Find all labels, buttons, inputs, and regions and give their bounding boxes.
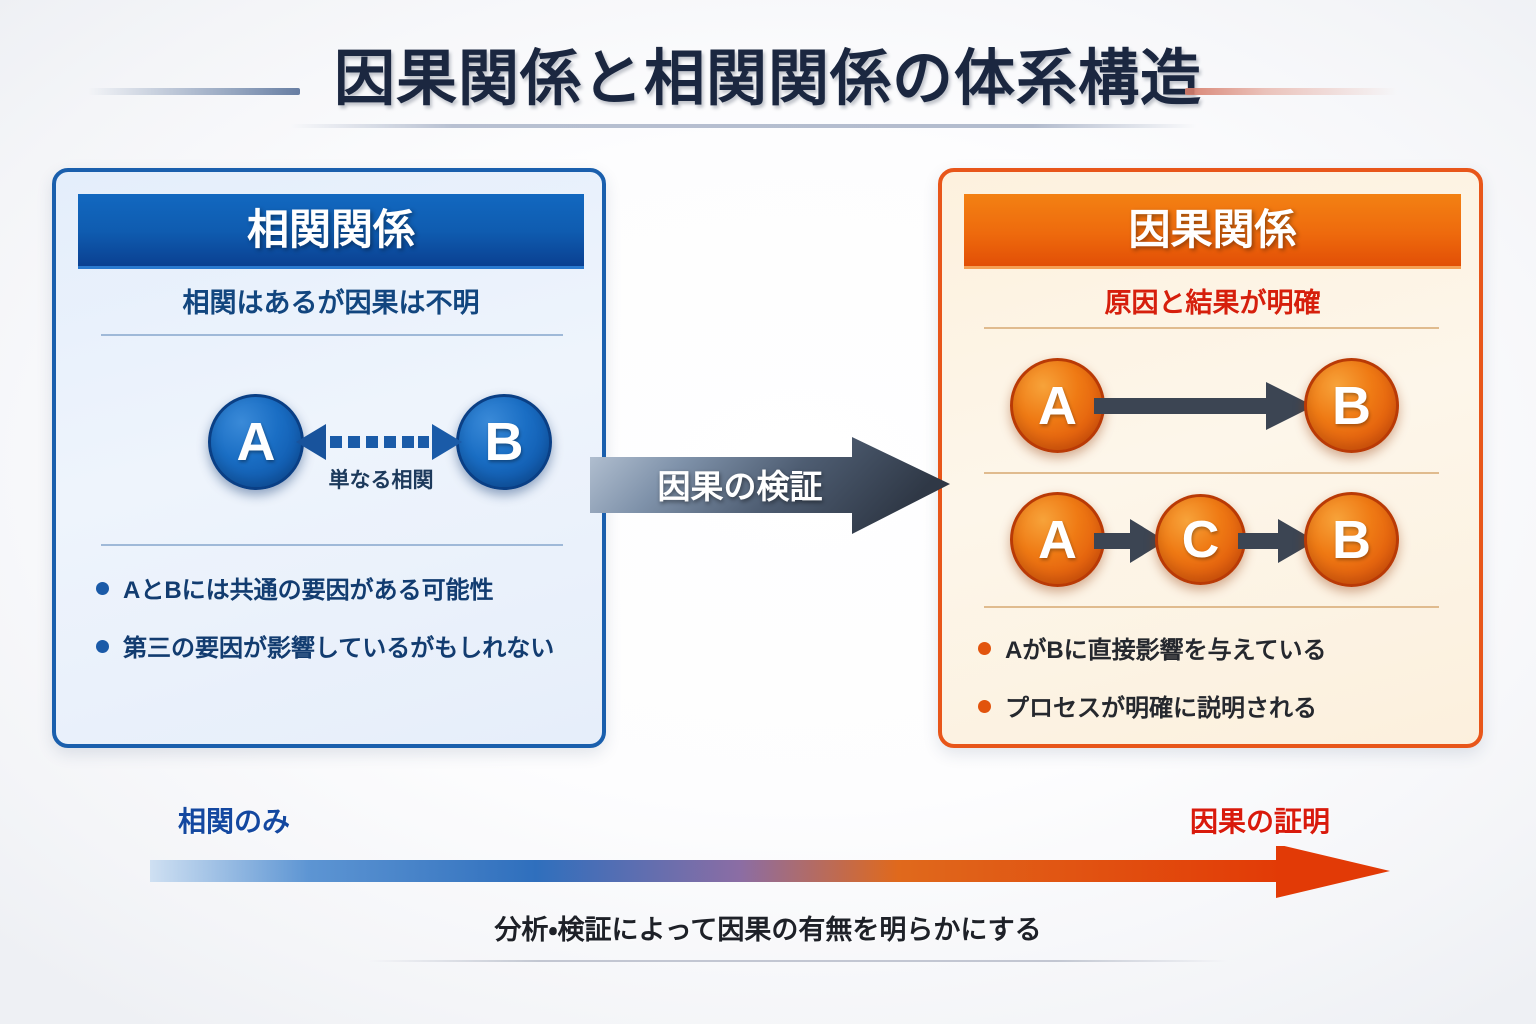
divider-correlation-bottom [101,544,563,546]
bullet-label: プロセスが明確に説明される [1005,688,1317,723]
node-causation-row2-b: B [1304,492,1399,587]
spectrum-gradient-arrow-icon [150,846,1390,898]
bullet-dot-icon [96,582,109,595]
bottom-rule [368,960,1228,962]
slide-canvas: 因果関係と相関関係の体系構造 相関関係 相関はあるが因果は不明 A B 単なる相… [0,0,1536,1024]
bullet-label: AがBに直接影響を与えている [1005,630,1326,665]
panel-correlation-header: 相関関係 [78,194,584,269]
divider-causation-top [984,327,1439,329]
title-rule-right [1185,88,1397,95]
bottom-caption: 分析・検証によって因果の有無を明らかにする [0,908,1536,947]
verification-arrow-icon [590,437,950,552]
bullet-label: 第三の要因が影響しているがもしれない [123,628,554,663]
panel-causation-header: 因果関係 [964,194,1461,269]
page-title: 因果関係と相関関係の体系構造 [0,26,1536,130]
list-item: プロセスが明確に説明される [978,688,1448,723]
correlation-link-label: 単なる相関 [246,464,516,494]
node-causation-row2-c: C [1155,494,1246,585]
divider-causation-bottom [984,606,1439,608]
bullet-dot-icon [978,700,991,713]
panel-causation: 因果関係 原因と結果が明確 A B A C B AがBに直接影響を与えている [938,168,1483,748]
dotted-bidirectional-arrow-icon [296,420,462,464]
bullet-label: AとBには共通の要因がある可能性 [123,570,494,605]
correlation-bullet-list: AとBには共通の要因がある可能性 第三の要因が影響しているがもしれない [96,570,572,686]
panel-correlation: 相関関係 相関はあるが因果は不明 A B 単なる相関 AとBには共通の要因がある… [52,168,606,748]
panel-causation-subtitle: 原因と結果が明確 [964,280,1461,326]
divider-correlation-top [101,334,563,336]
panel-correlation-subtitle: 相関はあるが因果は不明 [78,280,584,326]
list-item: 第三の要因が影響しているがもしれない [96,628,572,663]
list-item: AがBに直接影響を与えている [978,630,1448,665]
spectrum-label-right: 因果の証明 [1140,800,1330,840]
node-causation-row1-b: B [1304,358,1399,453]
title-rule-left [88,88,300,95]
title-block: 因果関係と相関関係の体系構造 [0,26,1536,134]
causation-bullet-list: AがBに直接影響を与えている プロセスが明確に説明される [978,630,1448,746]
node-causation-row1-a: A [1010,358,1105,453]
bullet-dot-icon [978,642,991,655]
node-causation-row2-a: A [1010,492,1105,587]
causal-arrow-a-to-b-icon [1094,380,1314,432]
list-item: AとBには共通の要因がある可能性 [96,570,572,605]
bullet-dot-icon [96,640,109,653]
title-underline [290,124,1196,128]
divider-causation-middle [984,472,1439,474]
spectrum-label-left: 相関のみ [178,800,290,840]
